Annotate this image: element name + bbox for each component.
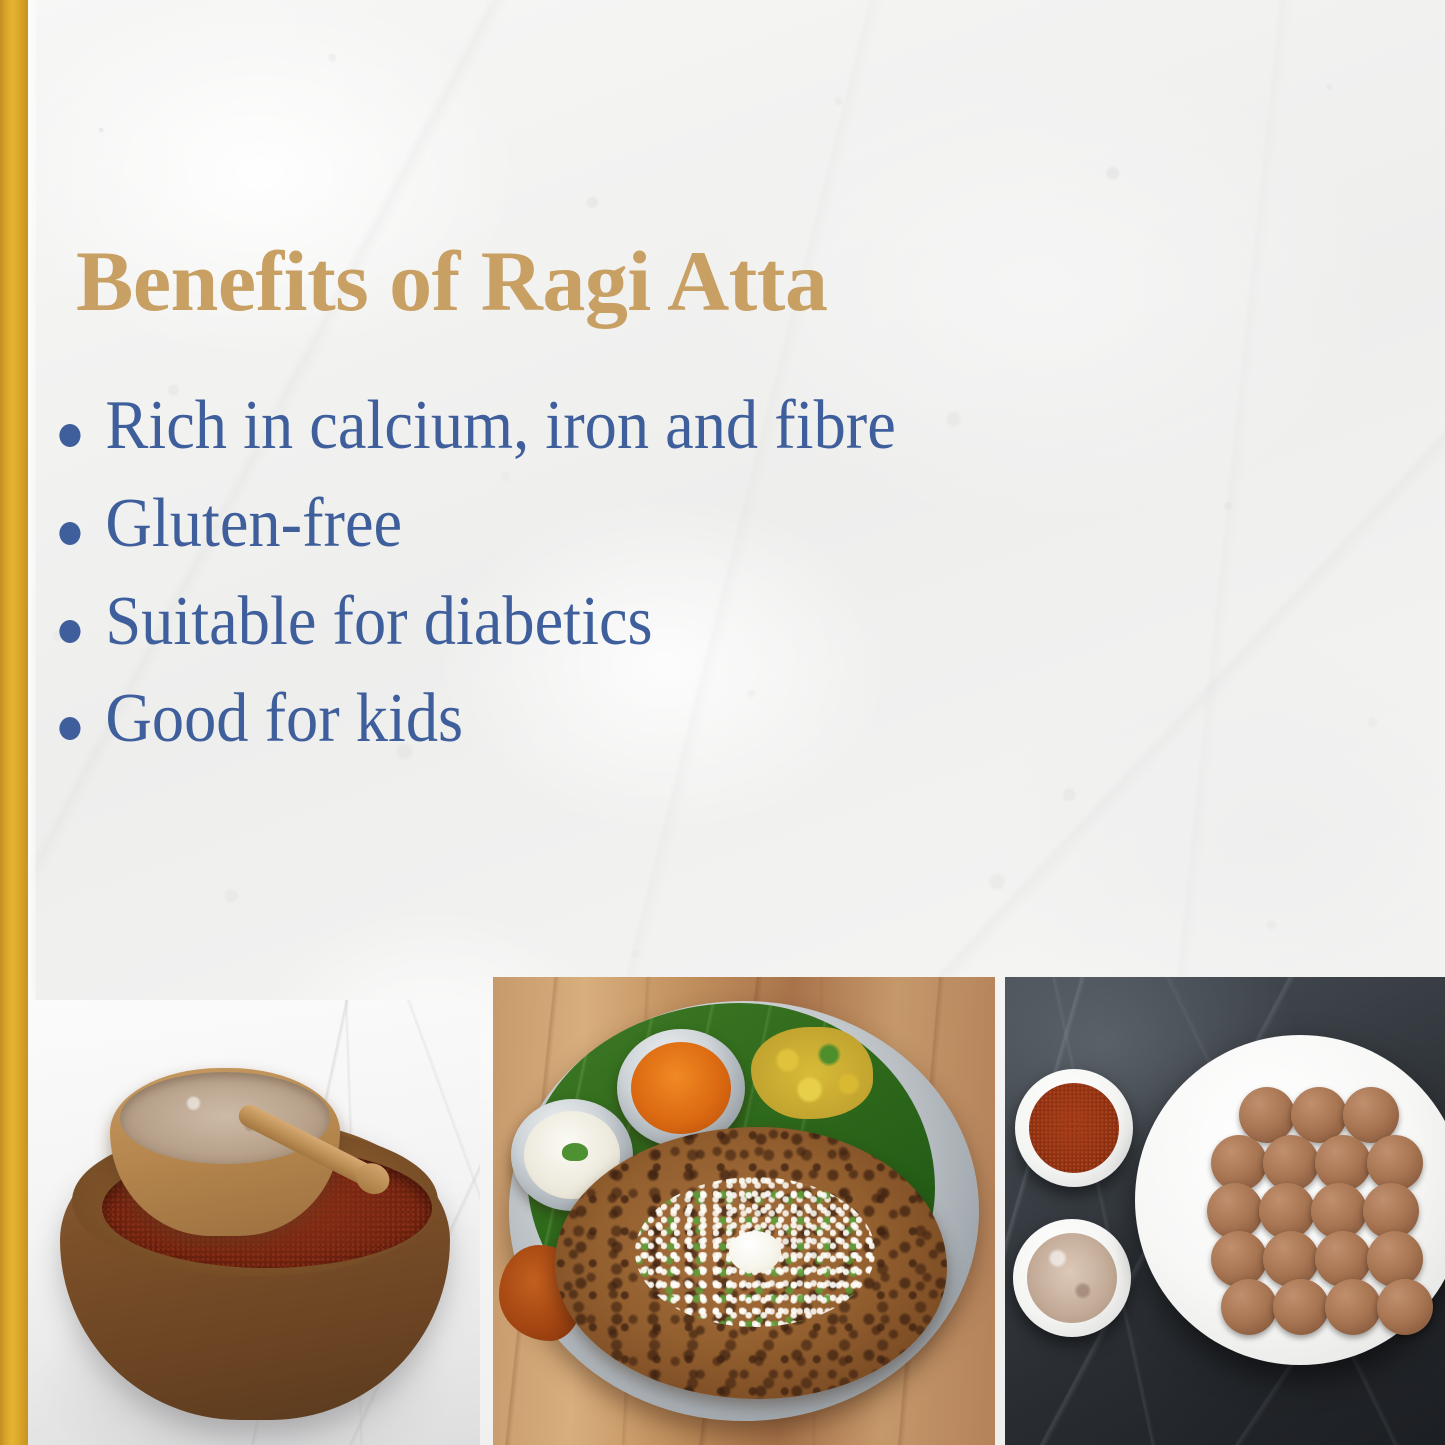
butter-dollop <box>729 1231 781 1273</box>
page-title: Benefits of Ragi Atta <box>76 236 827 326</box>
ragi-laddoo <box>1367 1231 1423 1287</box>
wooden-table-surface <box>493 977 995 1445</box>
ragi-laddoo <box>1211 1231 1267 1287</box>
ragi-flour-bowl <box>1013 1219 1131 1337</box>
sambar <box>631 1042 731 1134</box>
ragi-grains <box>1029 1083 1119 1173</box>
ragi-laddoo <box>1325 1279 1381 1335</box>
ragi-laddoo <box>1273 1279 1329 1335</box>
photo-ragi-dosa-thali <box>493 977 995 1445</box>
list-item: Rich in calcium, iron and fibre <box>52 386 972 466</box>
photo-ragi-laddoo-plate <box>1005 977 1445 1445</box>
benefits-poster: Benefits of Ragi Atta Rich in calcium, i… <box>0 0 1445 1445</box>
list-item: Good for kids <box>52 679 972 759</box>
ragi-laddoo <box>1221 1279 1277 1335</box>
benefit-label: Good for kids <box>105 680 463 757</box>
ragi-grain-bowl <box>1015 1069 1133 1187</box>
ragi-flour <box>1027 1233 1117 1323</box>
photo-ragi-flour-and-grains-bowl <box>28 1000 480 1445</box>
bullet-dot-icon <box>59 717 80 740</box>
coriander-leaf <box>562 1143 588 1161</box>
ragi-laddoo <box>1377 1279 1433 1335</box>
slate-surface <box>1005 977 1445 1445</box>
ragi-dosa <box>555 1127 947 1399</box>
bullet-dot-icon <box>59 424 80 447</box>
list-item: Gluten-free <box>52 484 972 564</box>
photo-strip <box>0 975 1445 1445</box>
benefit-label: Gluten-free <box>105 485 402 562</box>
potato-sabzi <box>751 1027 873 1119</box>
benefit-label: Rich in calcium, iron and fibre <box>105 387 895 464</box>
ragi-laddoo <box>1263 1231 1319 1287</box>
benefit-label: Suitable for diabetics <box>105 583 652 660</box>
ragi-laddoo <box>1315 1231 1371 1287</box>
bullet-dot-icon <box>59 522 80 545</box>
left-photo-surface <box>28 1000 480 1445</box>
white-plate <box>1135 1035 1445 1365</box>
benefits-list: Rich in calcium, iron and fibre Gluten-f… <box>52 386 1052 777</box>
list-item: Suitable for diabetics <box>52 582 972 662</box>
bullet-dot-icon <box>59 620 80 643</box>
